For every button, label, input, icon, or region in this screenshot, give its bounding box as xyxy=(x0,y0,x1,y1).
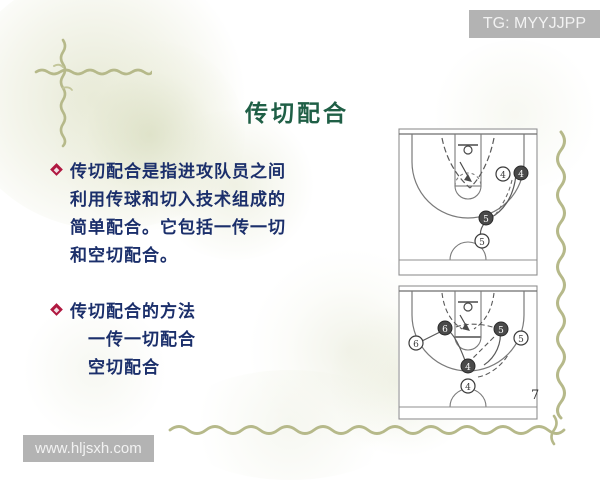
svg-text:4: 4 xyxy=(465,363,471,373)
svg-text:6: 6 xyxy=(413,340,419,350)
page-number: 7 xyxy=(531,388,539,403)
svg-text:4: 4 xyxy=(500,171,506,181)
player-marker: 4 xyxy=(461,359,475,373)
player-marker: 6 xyxy=(409,336,423,350)
svg-text:5: 5 xyxy=(479,238,485,248)
diamond-bullet-icon xyxy=(50,303,63,316)
svg-text:4: 4 xyxy=(465,383,471,393)
player-marker: 4 xyxy=(514,166,528,180)
svg-text:4: 4 xyxy=(518,170,524,180)
slide-canvas: 传切配合 传切配合是指进攻队员之间 利用传球和切入技术组成的 简单配合。它包括一… xyxy=(0,0,600,480)
bullet-block-1: 传切配合是指进攻队员之间 利用传球和切入技术组成的 简单配合。它包括一传一切 和… xyxy=(52,158,372,270)
page-title: 传切配合 xyxy=(245,94,349,128)
watermark-top-right: TG: MYYJJPP xyxy=(469,10,600,38)
watermark-bottom-left: www.hljsxh.com xyxy=(23,435,154,462)
player-marker: 5 xyxy=(475,234,489,248)
sub-item-2: 空切配合 xyxy=(88,354,372,382)
player-marker: 4 xyxy=(461,379,475,393)
svg-text:6: 6 xyxy=(442,325,448,335)
player-marker: 4 xyxy=(496,167,510,181)
player-marker: 5 xyxy=(514,331,528,345)
basketball-play-diagram-2: 6 6 5 5 4 4 xyxy=(398,285,538,420)
vine-cross-decoration xyxy=(32,36,152,160)
player-marker: 6 xyxy=(438,321,452,335)
vine-vertical-decoration xyxy=(548,130,574,434)
svg-text:5: 5 xyxy=(498,326,504,336)
bullet-text-1: 传切配合是指进攻队员之间 利用传球和切入技术组成的 简单配合。它包括一传一切 和… xyxy=(70,158,286,270)
watercolor-wash xyxy=(175,370,405,480)
sub-item-1: 一传一切配合 xyxy=(88,326,372,354)
svg-text:5: 5 xyxy=(518,335,524,345)
player-marker: 5 xyxy=(494,322,508,336)
basketball-play-diagram-1: 4 4 5 5 xyxy=(398,128,538,276)
player-marker: 5 xyxy=(479,211,493,225)
diamond-bullet-icon xyxy=(50,163,63,176)
bullet-block-2: 传切配合的方法 一传一切配合 空切配合 xyxy=(52,298,372,382)
bullet-text-2: 传切配合的方法 xyxy=(70,298,196,326)
svg-text:5: 5 xyxy=(483,215,489,225)
